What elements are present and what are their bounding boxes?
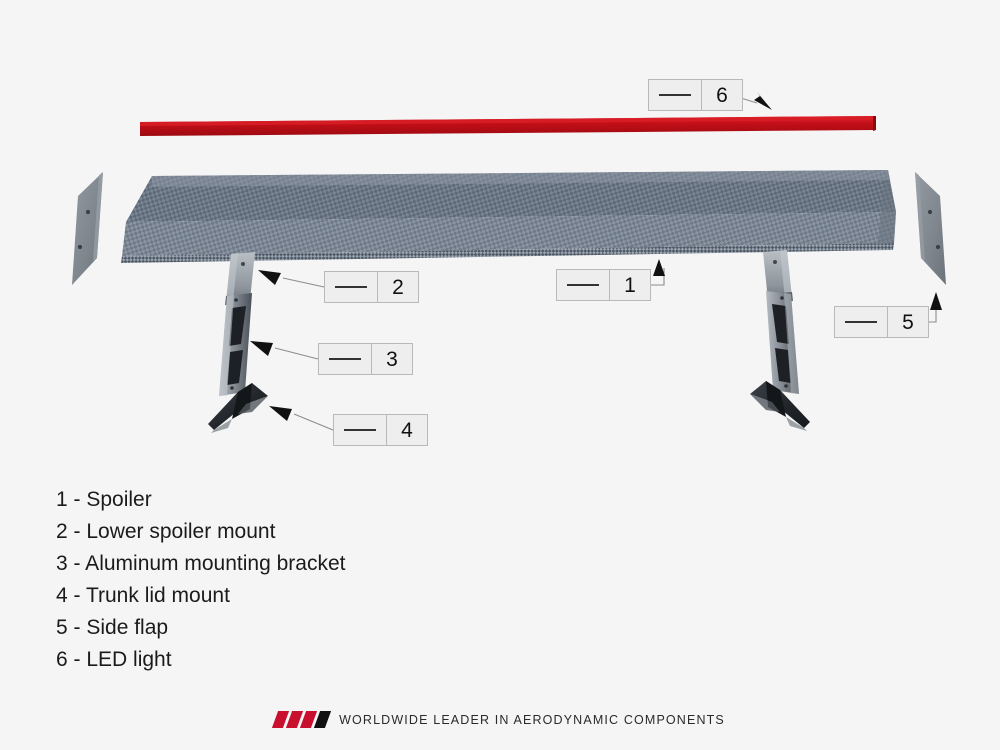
callout-badge-6[interactable]: 6 [648, 79, 743, 111]
callout-dash-1 [557, 270, 610, 300]
callout-dash-6 [649, 80, 702, 110]
callout-dash-3 [319, 344, 372, 374]
leader-lines [275, 95, 936, 430]
footer-tagline: WORLDWIDE LEADER IN AERODYNAMIC COMPONEN… [339, 713, 725, 727]
legend-item-2: 2 - Lower spoiler mount [56, 516, 345, 548]
callout-number-6: 6 [702, 80, 742, 110]
callout-number-5: 5 [888, 307, 928, 337]
legend-item-4: 4 - Trunk lid mount [56, 580, 345, 612]
legend-item-1: 1 - Spoiler [56, 484, 345, 516]
callout-number-4: 4 [387, 415, 427, 445]
legend-item-3: 3 - Aluminum mounting bracket [56, 548, 345, 580]
footer-branding: WORLDWIDE LEADER IN AERODYNAMIC COMPONEN… [0, 711, 1000, 728]
callout-dash-5 [835, 307, 888, 337]
callout-badge-2[interactable]: 2 [324, 271, 419, 303]
legend-item-6: 6 - LED light [56, 644, 345, 676]
callout-dash-2 [325, 272, 378, 302]
callout-number-2: 2 [378, 272, 418, 302]
part-main-wing [121, 170, 896, 263]
legend-item-5: 5 - Side flap [56, 612, 345, 644]
callout-badge-3[interactable]: 3 [318, 343, 413, 375]
callout-badge-4[interactable]: 4 [333, 414, 428, 446]
callout-number-1: 1 [610, 270, 650, 300]
logo-stripe-4 [314, 711, 331, 728]
part-led-strip [140, 116, 876, 136]
callout-dash-4 [334, 415, 387, 445]
part-side-flap-right [915, 172, 946, 285]
diagram-stage: 6 1 2 3 4 5 1 - Spoiler 2 - Lower spoile… [0, 0, 1000, 750]
part-side-flap-left [72, 172, 103, 285]
callout-badge-5[interactable]: 5 [834, 306, 929, 338]
brand-logo-icon [275, 711, 328, 728]
parts-legend: 1 - Spoiler 2 - Lower spoiler mount 3 - … [56, 484, 345, 676]
part-aluminum-bracket-left [219, 293, 252, 396]
part-aluminum-bracket-right [766, 291, 799, 394]
callout-badge-1[interactable]: 1 [556, 269, 651, 301]
callout-number-3: 3 [372, 344, 412, 374]
